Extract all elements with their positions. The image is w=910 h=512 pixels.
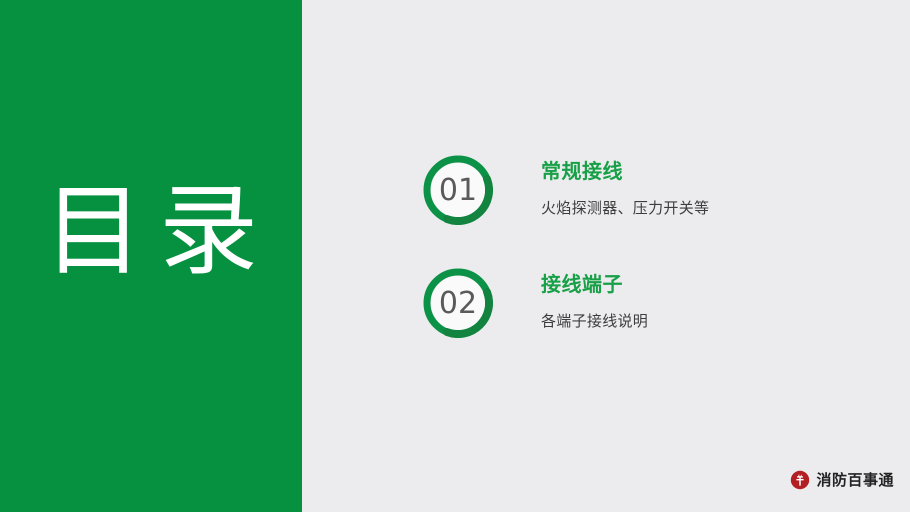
toc-item-text-block: 常规接线 火焰探测器、压力开关等: [541, 158, 709, 219]
presentation-slide: 目录 01 常规接线 火焰探测器、压力开关等: [0, 0, 910, 512]
toc-item-heading: 接线端子: [541, 271, 648, 297]
toc-item-subtitle: 各端子接线说明: [541, 310, 648, 332]
toc-item-02[interactable]: 02 接线端子 各端子接线说明: [423, 268, 883, 381]
page-title: 目录: [44, 176, 274, 288]
toc-item-number: 01: [423, 155, 493, 225]
brand-name: 消防百事通: [816, 470, 894, 490]
brand-logo: 消防百事通: [790, 468, 894, 492]
toc-item-number: 02: [423, 268, 493, 338]
number-badge-circle-icon: 01: [423, 155, 493, 225]
toc-item-01[interactable]: 01 常规接线 火焰探测器、压力开关等: [423, 155, 883, 268]
number-badge-circle-icon: 02: [423, 268, 493, 338]
title-panel: 目录: [0, 0, 302, 512]
fire-safety-circle-icon: [790, 470, 810, 490]
toc-item-heading: 常规接线: [541, 158, 709, 184]
toc-item-text-block: 接线端子 各端子接线说明: [541, 271, 648, 332]
toc-item-subtitle: 火焰探测器、压力开关等: [541, 197, 709, 219]
table-of-contents: 01 常规接线 火焰探测器、压力开关等 02 接线端子 各端子接线说明: [423, 155, 883, 381]
